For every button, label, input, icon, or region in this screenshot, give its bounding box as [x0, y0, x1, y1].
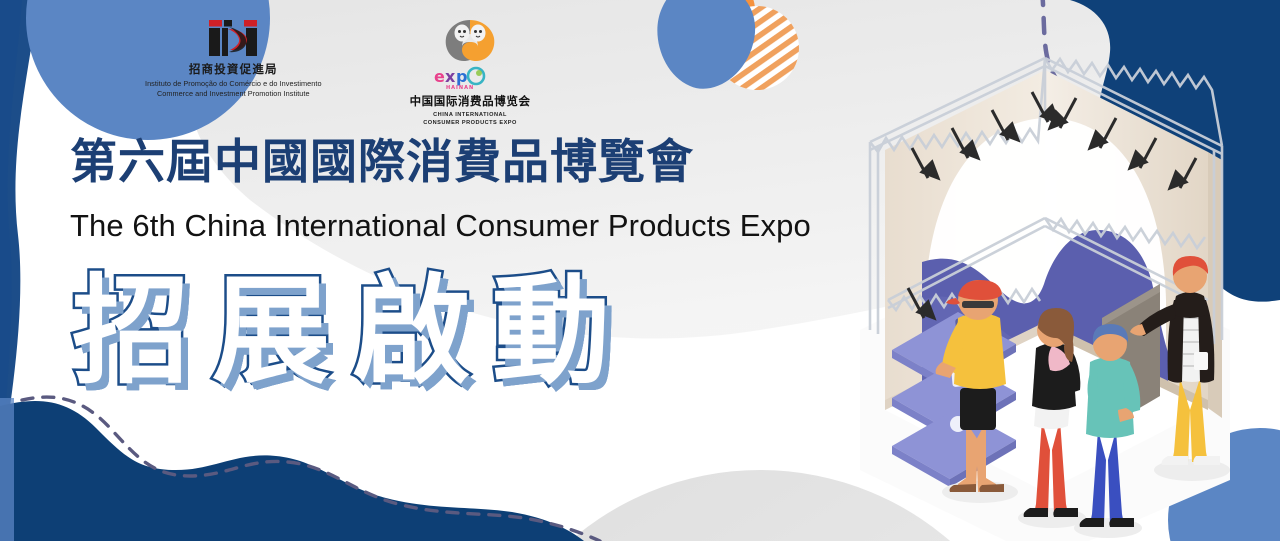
ipim-logo-block: 招商投資促進局 Instituto de Promoção do Comérci…: [145, 18, 322, 100]
svg-text:p: p: [456, 67, 467, 86]
yellow-sweater: [954, 313, 1006, 389]
expo-name-en-line2: CONSUMER PRODUCTS EXPO: [423, 120, 517, 126]
ipim-name-pt: Instituto de Promoção do Comércio e do I…: [145, 79, 322, 90]
expo-wordmark-icon: e x p HAINAN: [432, 65, 508, 91]
page-title-en: The 6th China International Consumer Pro…: [70, 210, 811, 241]
ipim-monument-logo-icon: [205, 18, 261, 58]
svg-text:x: x: [445, 67, 456, 86]
promo-banner: 招商投資促進局 Instituto de Promoção do Comérci…: [0, 0, 1280, 541]
headline-cn: 招展啟動: [72, 272, 632, 390]
ipim-name-cn: 招商投資促進局: [189, 63, 278, 76]
expo-name-en-line1: CHINA INTERNATIONAL: [433, 112, 507, 118]
vr-glasses: [962, 301, 994, 308]
svg-text:HAINAN: HAINAN: [446, 85, 474, 91]
page-title-cn: 第六屆中國國際消費品博覽會: [70, 139, 694, 186]
ipim-name-en: Commerce and Investment Promotion Instit…: [157, 89, 310, 100]
isometric-exhibition-booth-illustration: [830, 0, 1280, 541]
name-badge: [1194, 352, 1208, 370]
logo-row: 招商投資促進局 Instituto de Promoção do Comérci…: [145, 18, 531, 127]
expo-gibbon-pair-logo-icon: [440, 18, 500, 64]
expo-name-cn: 中国国际消费品博览会: [410, 95, 531, 108]
expo-name-en: CHINA INTERNATIONAL CONSUMER PRODUCTS EX…: [423, 111, 517, 128]
expo-logo-block: e x p HAINAN 中国国际消费品博览会 CHINA INTERNATIO…: [410, 18, 531, 127]
svg-text:e: e: [434, 67, 445, 86]
